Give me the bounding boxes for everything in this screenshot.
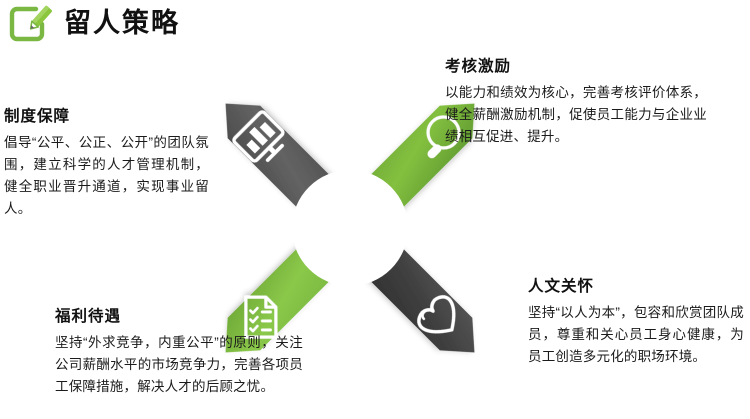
block-body-system: 倡导“公平、公正、公开”的团队氛围，建立科学的人才管理机制，健全职业晋升通道，实… [4, 132, 209, 219]
text-block-appraisal: 考核激励 以能力和绩效为核心，完善考核评价体系，健全薪酬激励机制，促使员工能力与… [445, 58, 707, 148]
block-body-care: 坚持“以人为本”，包容和欣赏团队成员，尊重和关心员工身心健康，为员工创造多元化的… [528, 302, 744, 368]
center-circle [292, 170, 408, 286]
block-title-system: 制度保障 [4, 108, 209, 125]
block-title-care: 人文关怀 [528, 278, 744, 295]
text-block-care: 人文关怀 坚持“以人为本”，包容和欣赏团队成员，尊重和关心员工身心健康，为员工创… [528, 278, 744, 368]
block-body-appraisal: 以能力和绩效为核心，完善考核评价体系，健全薪酬激励机制，促使员工能力与企业业绩相… [445, 82, 707, 148]
text-block-system: 制度保障 倡导“公平、公正、公开”的团队氛围，建立科学的人才管理机制，健全职业晋… [4, 108, 209, 219]
page-header: 留人策略 [8, 2, 180, 46]
block-title-appraisal: 考核激励 [445, 58, 707, 75]
edit-pencil-icon [8, 2, 54, 46]
block-title-welfare: 福利待遇 [55, 308, 303, 325]
infographic-canvas: 留人策略 [0, 0, 750, 419]
page-title: 留人策略 [64, 10, 180, 39]
text-block-welfare: 福利待遇 坚持“外求竞争，内重公平”的原则，关注公司薪酬水平的市场竞争力，完善各… [55, 308, 303, 398]
block-body-welfare: 坚持“外求竞争，内重公平”的原则，关注公司薪酬水平的市场竞争力，完善各项员工保障… [55, 332, 303, 398]
